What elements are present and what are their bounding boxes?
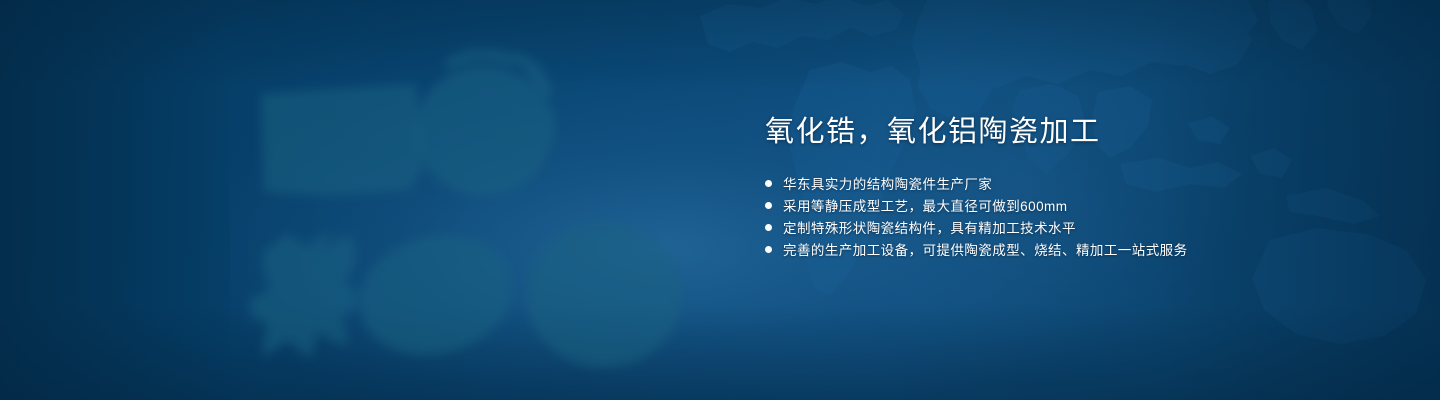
list-item-label: 采用等静压成型工艺，最大直径可做到600mm [783,195,1067,215]
banner-text-block: 氧化锆，氧化铝陶瓷加工 华东具实力的结构陶瓷件生产厂家 采用等静压成型工艺，最大… [765,112,1365,260]
list-item-label: 华东具实力的结构陶瓷件生产厂家 [783,173,992,193]
bullet-dot-icon [765,202,772,209]
bullet-dot-icon [765,180,772,187]
bullet-dot-icon [765,224,772,231]
product-perforated-disc [526,223,681,367]
product-photo-group [0,0,720,400]
list-item: 完善的生产加工设备，可提供陶瓷成型、烧结、精加工一站式服务 [765,238,1365,260]
bullet-dot-icon [765,246,772,253]
list-item-label: 完善的生产加工设备，可提供陶瓷成型、烧结、精加工一站式服务 [783,239,1188,259]
product-ceramic-impeller [415,49,555,196]
hero-banner: 氧化锆，氧化铝陶瓷加工 华东具实力的结构陶瓷件生产厂家 采用等静压成型工艺，最大… [0,0,1440,400]
feature-list: 华东具实力的结构陶瓷件生产厂家 采用等静压成型工艺，最大直径可做到600mm 定… [765,172,1365,260]
list-item: 华东具实力的结构陶瓷件生产厂家 [765,172,1365,194]
product-ceramic-plate [261,84,424,196]
list-item: 定制特殊形状陶瓷结构件，具有精加工技术水平 [765,216,1365,238]
page-title: 氧化锆，氧化铝陶瓷加工 [765,112,1365,152]
product-ceramic-cross-plate [246,230,362,358]
product-ceramic-ring [348,220,524,370]
list-item-label: 定制特殊形状陶瓷结构件，具有精加工技术水平 [783,217,1076,237]
list-item: 采用等静压成型工艺，最大直径可做到600mm [765,194,1365,216]
